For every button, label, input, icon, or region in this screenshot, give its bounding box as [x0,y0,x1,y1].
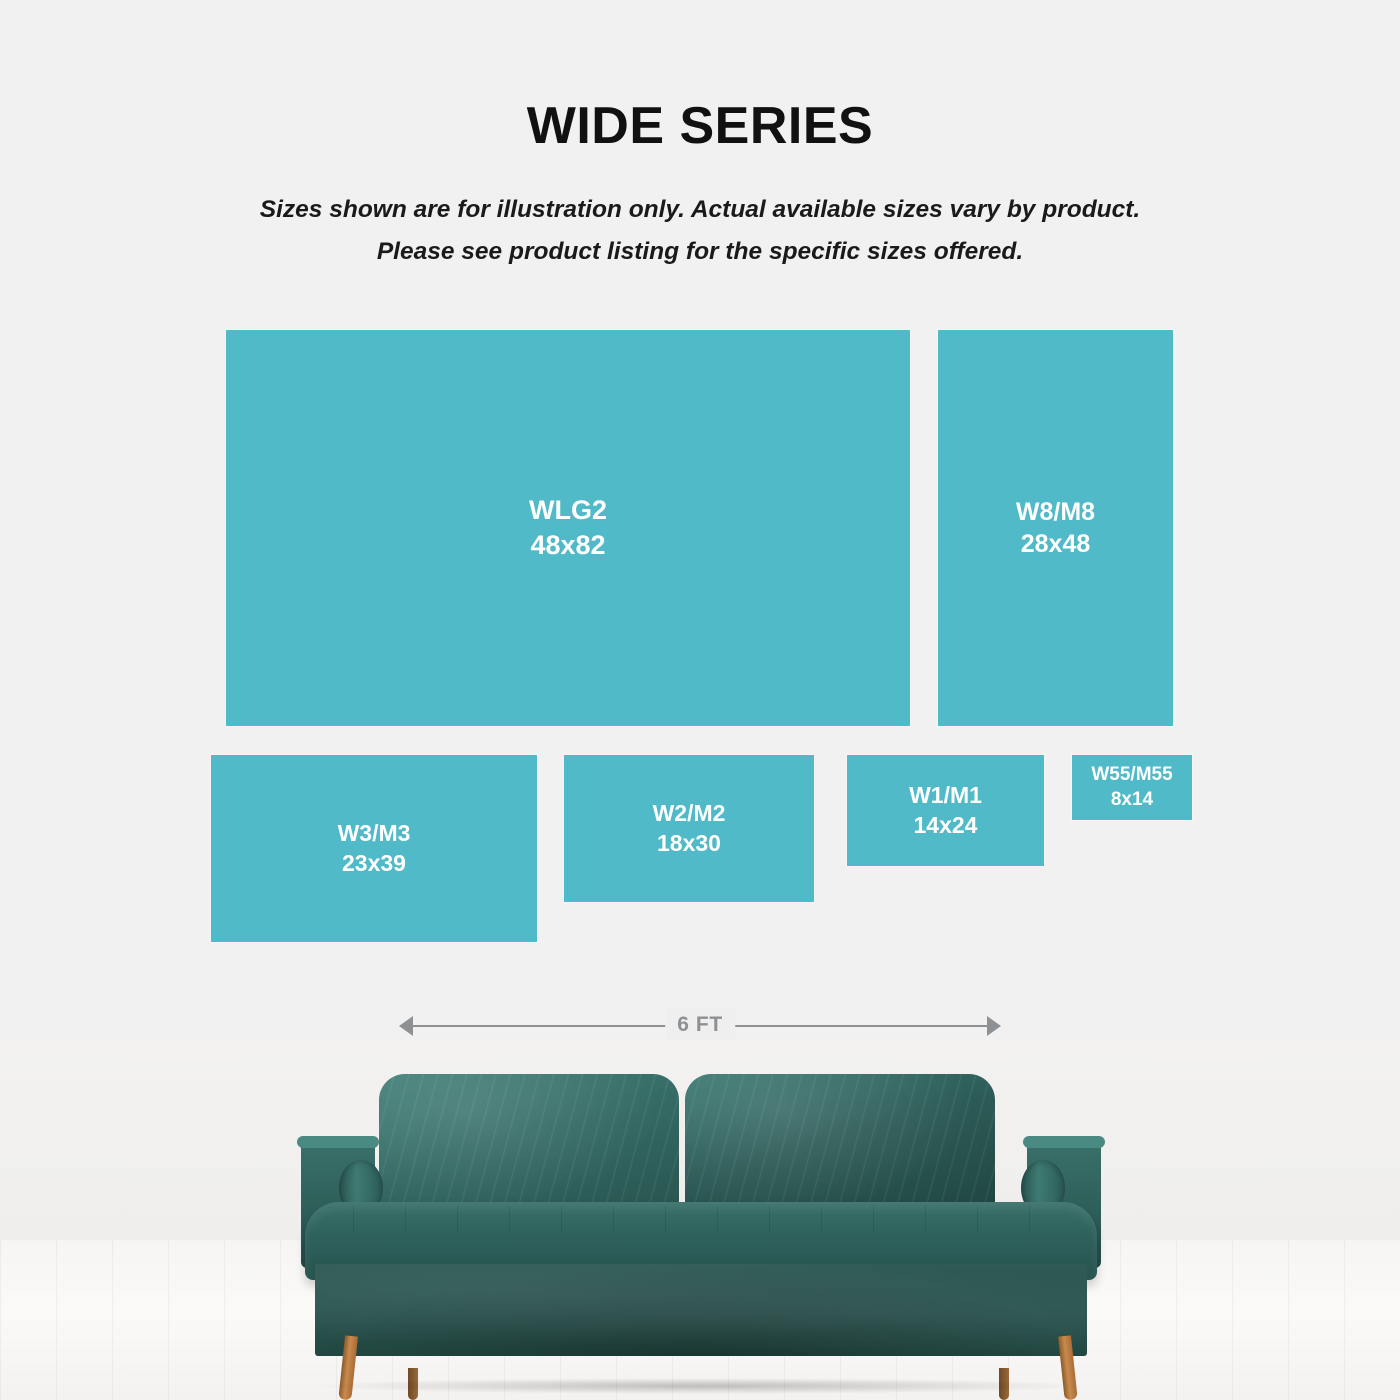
swatch-code-label: W8/M8 [1016,496,1095,528]
measure-label: 6 FT [665,1009,735,1043]
swatch-code-label: W1/M1 [909,781,982,810]
swatch-dimensions-label: 28x48 [1021,528,1091,560]
swatch-dimensions-label: 14x24 [914,811,978,840]
swatch-dimensions-label: 23x39 [342,849,406,878]
swatch-dimensions-label: 8x14 [1111,788,1153,812]
sofa-arm-top-left [297,1136,379,1148]
swatch-code-label: W3/M3 [338,819,411,848]
sofa-back-cushion-right [685,1074,995,1222]
size-swatch[interactable]: W1/M114x24 [847,755,1044,866]
arrow-right-icon [987,1016,1001,1036]
sofa-shadow [317,1378,1085,1394]
sofa-arm-top-right [1023,1136,1105,1148]
swatch-code-label: W2/M2 [653,799,726,828]
sofa-illustration [283,1052,1117,1400]
size-swatch-area: WLG248x82W8/M828x48W3/M323x39W2/M218x30W… [0,0,1400,980]
size-swatch[interactable]: W2/M218x30 [564,755,814,902]
swatch-dimensions-label: 48x82 [530,528,605,563]
size-swatch[interactable]: W55/M558x14 [1072,755,1192,820]
sofa-back-cushion-left [379,1074,679,1222]
sofa-reference-image [0,1040,1400,1400]
size-swatch[interactable]: W8/M828x48 [938,330,1173,726]
swatch-code-label: W55/M55 [1091,763,1172,787]
size-swatch[interactable]: W3/M323x39 [211,755,537,942]
swatch-dimensions-label: 18x30 [657,829,721,858]
size-swatch[interactable]: WLG248x82 [226,330,910,726]
scale-reference-measure: 6 FT [399,1008,1001,1044]
sofa-base [315,1264,1087,1356]
swatch-code-label: WLG2 [529,493,607,528]
